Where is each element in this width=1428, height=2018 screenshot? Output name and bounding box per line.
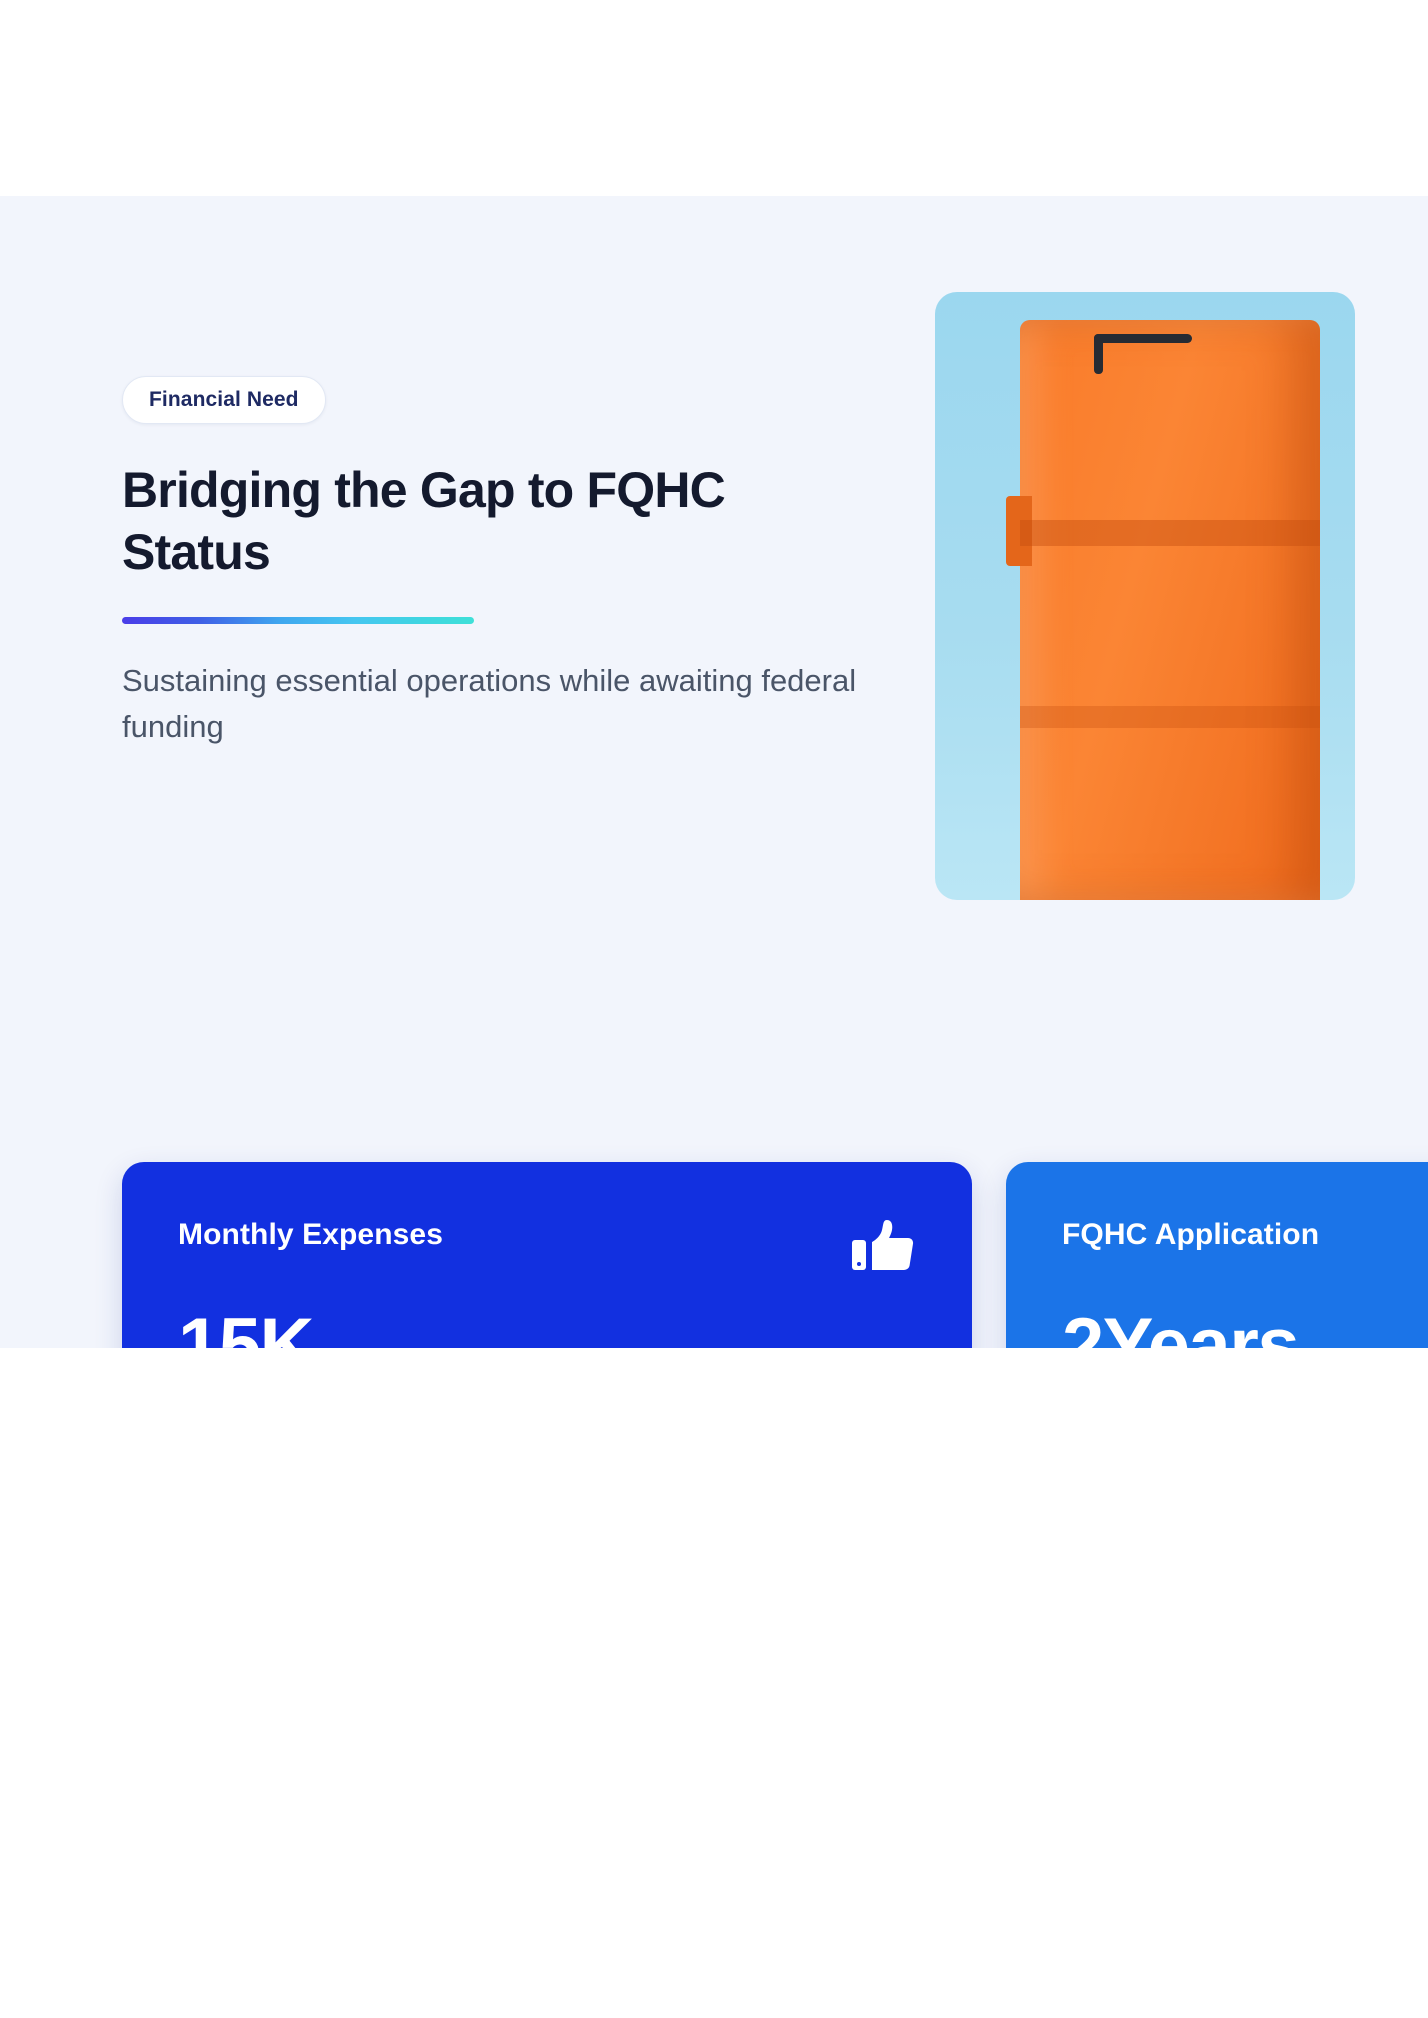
slide-canvas: Financial Need Bridging the Gap to FQHC … [0, 196, 1428, 1348]
gradient-divider [122, 617, 474, 624]
card-value: 2Years [1062, 1308, 1428, 1348]
thumbs-up-icon [850, 1218, 916, 1274]
card-value: 15K [178, 1308, 916, 1348]
stat-card-fqhc-application[interactable]: FQHC Application 2Years Years since init… [1006, 1162, 1428, 1348]
object-bar [1094, 334, 1192, 343]
hero-image-object [1020, 320, 1320, 900]
card-title: Monthly Expenses [178, 1218, 443, 1252]
page-subtitle: Sustaining essential operations while aw… [122, 658, 882, 750]
object-fold-upper [1020, 520, 1320, 546]
card-header: Monthly Expenses [178, 1218, 916, 1274]
stat-cards-row: Monthly Expenses 15K Core costs for rent… [122, 1162, 1428, 1348]
badge-financial-need[interactable]: Financial Need [122, 376, 326, 424]
card-title: FQHC Application [1062, 1218, 1319, 1252]
hero-image-panel [935, 292, 1355, 900]
hero-text-column: Financial Need Bridging the Gap to FQHC … [122, 376, 902, 750]
object-fold-lower [1020, 706, 1320, 728]
slide-page: Financial Need Bridging the Gap to FQHC … [0, 0, 1428, 2018]
badge-label: Financial Need [149, 388, 299, 412]
stat-card-monthly-expenses[interactable]: Monthly Expenses 15K Core costs for rent… [122, 1162, 972, 1348]
page-title: Bridging the Gap to FQHC Status [122, 460, 822, 583]
card-header: FQHC Application [1062, 1218, 1428, 1274]
